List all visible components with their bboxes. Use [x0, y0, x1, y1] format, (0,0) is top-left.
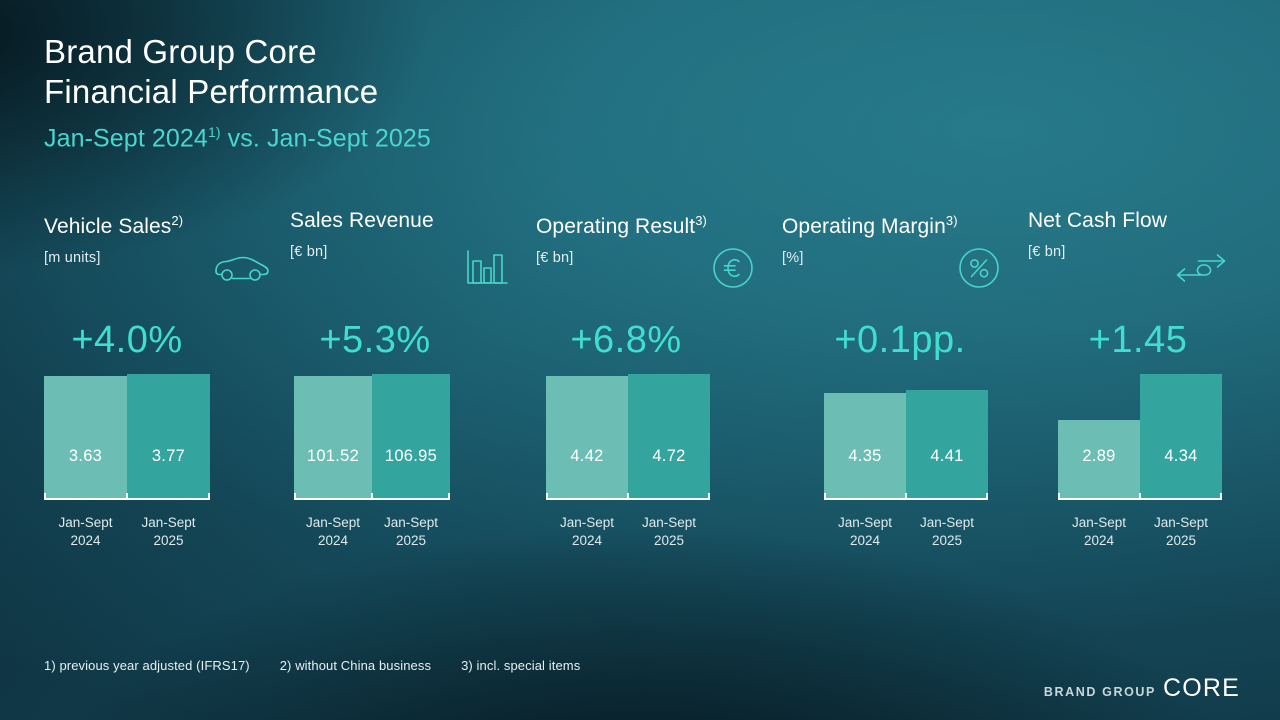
axis-labels: Jan-Sept2024Jan-Sept2025: [290, 514, 530, 554]
axis-tick-end: [1220, 493, 1222, 500]
bar-group: 3.633.77: [44, 374, 210, 498]
axis-tick-middle: [627, 493, 629, 500]
kpi-delta-value: +6.8%: [536, 312, 716, 368]
bar-value-current: 4.34: [1140, 447, 1222, 466]
axis-label-previous: Jan-Sept2024: [824, 514, 906, 550]
bar-value-previous: 101.52: [294, 447, 372, 466]
footnotes: 1) previous year adjusted (IFRS17)2) wit…: [44, 658, 580, 673]
axis-labels: Jan-Sept2024Jan-Sept2025: [782, 514, 1022, 554]
chart-axis: [536, 498, 776, 508]
bar-current-year[interactable]: 4.41: [906, 390, 988, 498]
period-previous-footnote-marker: 1): [208, 124, 221, 140]
kpi-column-operating-margin: Operating Margin3)[%]+0.1pp.4.354.41Jan-…: [782, 208, 1022, 588]
kpi-bar-chart: 4.424.72: [536, 374, 776, 498]
axis-tick-middle: [1139, 493, 1141, 500]
axis-label-current: Jan-Sept2025: [906, 514, 988, 550]
axis-label-current: Jan-Sept2025: [127, 514, 210, 550]
bar-previous-year[interactable]: 101.52: [294, 376, 372, 498]
bar-value-current: 106.95: [372, 447, 450, 466]
brand-logo: BRAND GROUP CORE: [1044, 674, 1240, 703]
kpi-delta-value: +1.45: [1028, 312, 1248, 368]
kpi-title-text: Net Cash Flow: [1028, 209, 1167, 232]
period-current: Jan-Sept 2025: [267, 124, 431, 152]
bar-current-year[interactable]: 3.77: [127, 374, 210, 498]
kpi-column-net-cash-flow: Net Cash Flow[€ bn]+1.452.894.34Jan-Sept…: [1028, 208, 1244, 588]
kpi-title-text: Vehicle Sales: [44, 215, 171, 238]
bar-group: 2.894.34: [1058, 374, 1222, 498]
bar-chart-icon: [456, 244, 518, 292]
kpi-delta-value: +0.1pp.: [782, 312, 1018, 368]
kpi-delta-value: +4.0%: [44, 312, 210, 368]
kpi-title-text: Operating Margin: [782, 215, 946, 238]
kpi-title-text: Operating Result: [536, 215, 695, 238]
kpi-title-footnote-marker: 3): [695, 213, 707, 228]
period-vs: vs.: [221, 124, 267, 152]
axis-label-previous: Jan-Sept2024: [294, 514, 372, 550]
axis-label-current: Jan-Sept2025: [372, 514, 450, 550]
logo-brand-text: BRAND GROUP: [1044, 685, 1156, 699]
page-title: Brand Group Core Financial Performance J…: [44, 32, 431, 156]
kpi-title: Operating Result3): [536, 208, 776, 240]
axis-label-previous: Jan-Sept2024: [1058, 514, 1140, 550]
bar-value-previous: 4.35: [824, 447, 906, 466]
footnote-2: 2) without China business: [280, 658, 431, 673]
kpi-title: Net Cash Flow: [1028, 208, 1244, 234]
kpi-title-text: Sales Revenue: [290, 209, 434, 232]
axis-label-previous: Jan-Sept2024: [44, 514, 127, 550]
axis-tick-start: [1058, 493, 1060, 500]
axis-tick-start: [546, 493, 548, 500]
chart-axis: [1028, 498, 1244, 508]
kpi-bar-chart: 101.52106.95: [290, 374, 530, 498]
bar-group: 4.354.41: [824, 374, 988, 498]
car-icon: [210, 244, 272, 292]
bar-value-current: 3.77: [127, 447, 210, 466]
kpi-title: Sales Revenue: [290, 208, 530, 234]
bar-value-previous: 4.42: [546, 447, 628, 466]
axis-tick-start: [294, 493, 296, 500]
kpi-title: Operating Margin3): [782, 208, 1022, 240]
bar-group: 101.52106.95: [294, 374, 450, 498]
kpi-bar-chart: 3.633.77: [44, 374, 284, 498]
kpi-bar-chart: 4.354.41: [782, 374, 1022, 498]
axis-tick-start: [824, 493, 826, 500]
kpi-header: Operating Margin3)[%]: [782, 208, 1022, 300]
kpi-header: Sales Revenue[€ bn]: [290, 208, 530, 300]
footnote-3: 3) incl. special items: [461, 658, 580, 673]
axis-label-previous: Jan-Sept2024: [546, 514, 628, 550]
title-line-2: Financial Performance: [44, 72, 431, 112]
chart-axis: [44, 498, 284, 508]
slide-root: Brand Group Core Financial Performance J…: [0, 0, 1280, 720]
kpi-column-vehicle-sales: Vehicle Sales2)[m units]+4.0%3.633.77Jan…: [44, 208, 284, 588]
kpi-header: Net Cash Flow[€ bn]: [1028, 208, 1244, 300]
axis-tick-end: [708, 493, 710, 500]
chart-axis: [290, 498, 530, 508]
kpi-title-footnote-marker: 3): [946, 213, 958, 228]
title-subtitle-period: Jan-Sept 20241) vs. Jan-Sept 2025: [44, 114, 431, 156]
axis-label-current: Jan-Sept2025: [628, 514, 710, 550]
axis-tick-middle: [126, 493, 128, 500]
bar-previous-year[interactable]: 3.63: [44, 376, 127, 498]
kpi-header: Vehicle Sales2)[m units]: [44, 208, 284, 300]
kpi-header: Operating Result3)[€ bn]: [536, 208, 776, 300]
bar-current-year[interactable]: 106.95: [372, 374, 450, 498]
bar-value-previous: 2.89: [1058, 447, 1140, 466]
axis-tick-end: [208, 493, 210, 500]
logo-core-text: CORE: [1163, 674, 1240, 703]
axis-tick-end: [448, 493, 450, 500]
kpi-row: Vehicle Sales2)[m units]+4.0%3.633.77Jan…: [44, 208, 1244, 588]
period-previous: Jan-Sept 2024: [44, 124, 208, 152]
euro-circle-icon: [702, 244, 764, 292]
bar-previous-year[interactable]: 4.42: [546, 376, 628, 498]
cash-flow-icon: [1170, 244, 1232, 292]
kpi-column-sales-revenue: Sales Revenue[€ bn]+5.3%101.52106.95Jan-…: [290, 208, 530, 588]
percent-circle-icon: [948, 244, 1010, 292]
axis-tick-end: [986, 493, 988, 500]
bar-current-year[interactable]: 4.72: [628, 374, 710, 498]
axis-labels: Jan-Sept2024Jan-Sept2025: [44, 514, 284, 554]
footnote-1: 1) previous year adjusted (IFRS17): [44, 658, 250, 673]
axis-label-current: Jan-Sept2025: [1140, 514, 1222, 550]
bar-value-current: 4.41: [906, 447, 988, 466]
axis-labels: Jan-Sept2024Jan-Sept2025: [1028, 514, 1244, 554]
title-line-1: Brand Group Core: [44, 32, 431, 72]
kpi-delta-value: +5.3%: [290, 312, 460, 368]
bar-value-current: 4.72: [628, 447, 710, 466]
bar-current-year[interactable]: 4.34: [1140, 374, 1222, 498]
axis-tick-middle: [905, 493, 907, 500]
kpi-bar-chart: 2.894.34: [1028, 374, 1244, 498]
axis-tick-middle: [371, 493, 373, 500]
kpi-title: Vehicle Sales2): [44, 208, 284, 240]
kpi-title-footnote-marker: 2): [171, 213, 183, 228]
kpi-column-operating-result: Operating Result3)[€ bn]+6.8%4.424.72Jan…: [536, 208, 776, 588]
axis-labels: Jan-Sept2024Jan-Sept2025: [536, 514, 776, 554]
chart-axis: [782, 498, 1022, 508]
bar-previous-year[interactable]: 4.35: [824, 393, 906, 498]
bar-previous-year[interactable]: 2.89: [1058, 420, 1140, 498]
bar-value-previous: 3.63: [44, 447, 127, 466]
axis-tick-start: [44, 493, 46, 500]
bar-group: 4.424.72: [546, 374, 710, 498]
